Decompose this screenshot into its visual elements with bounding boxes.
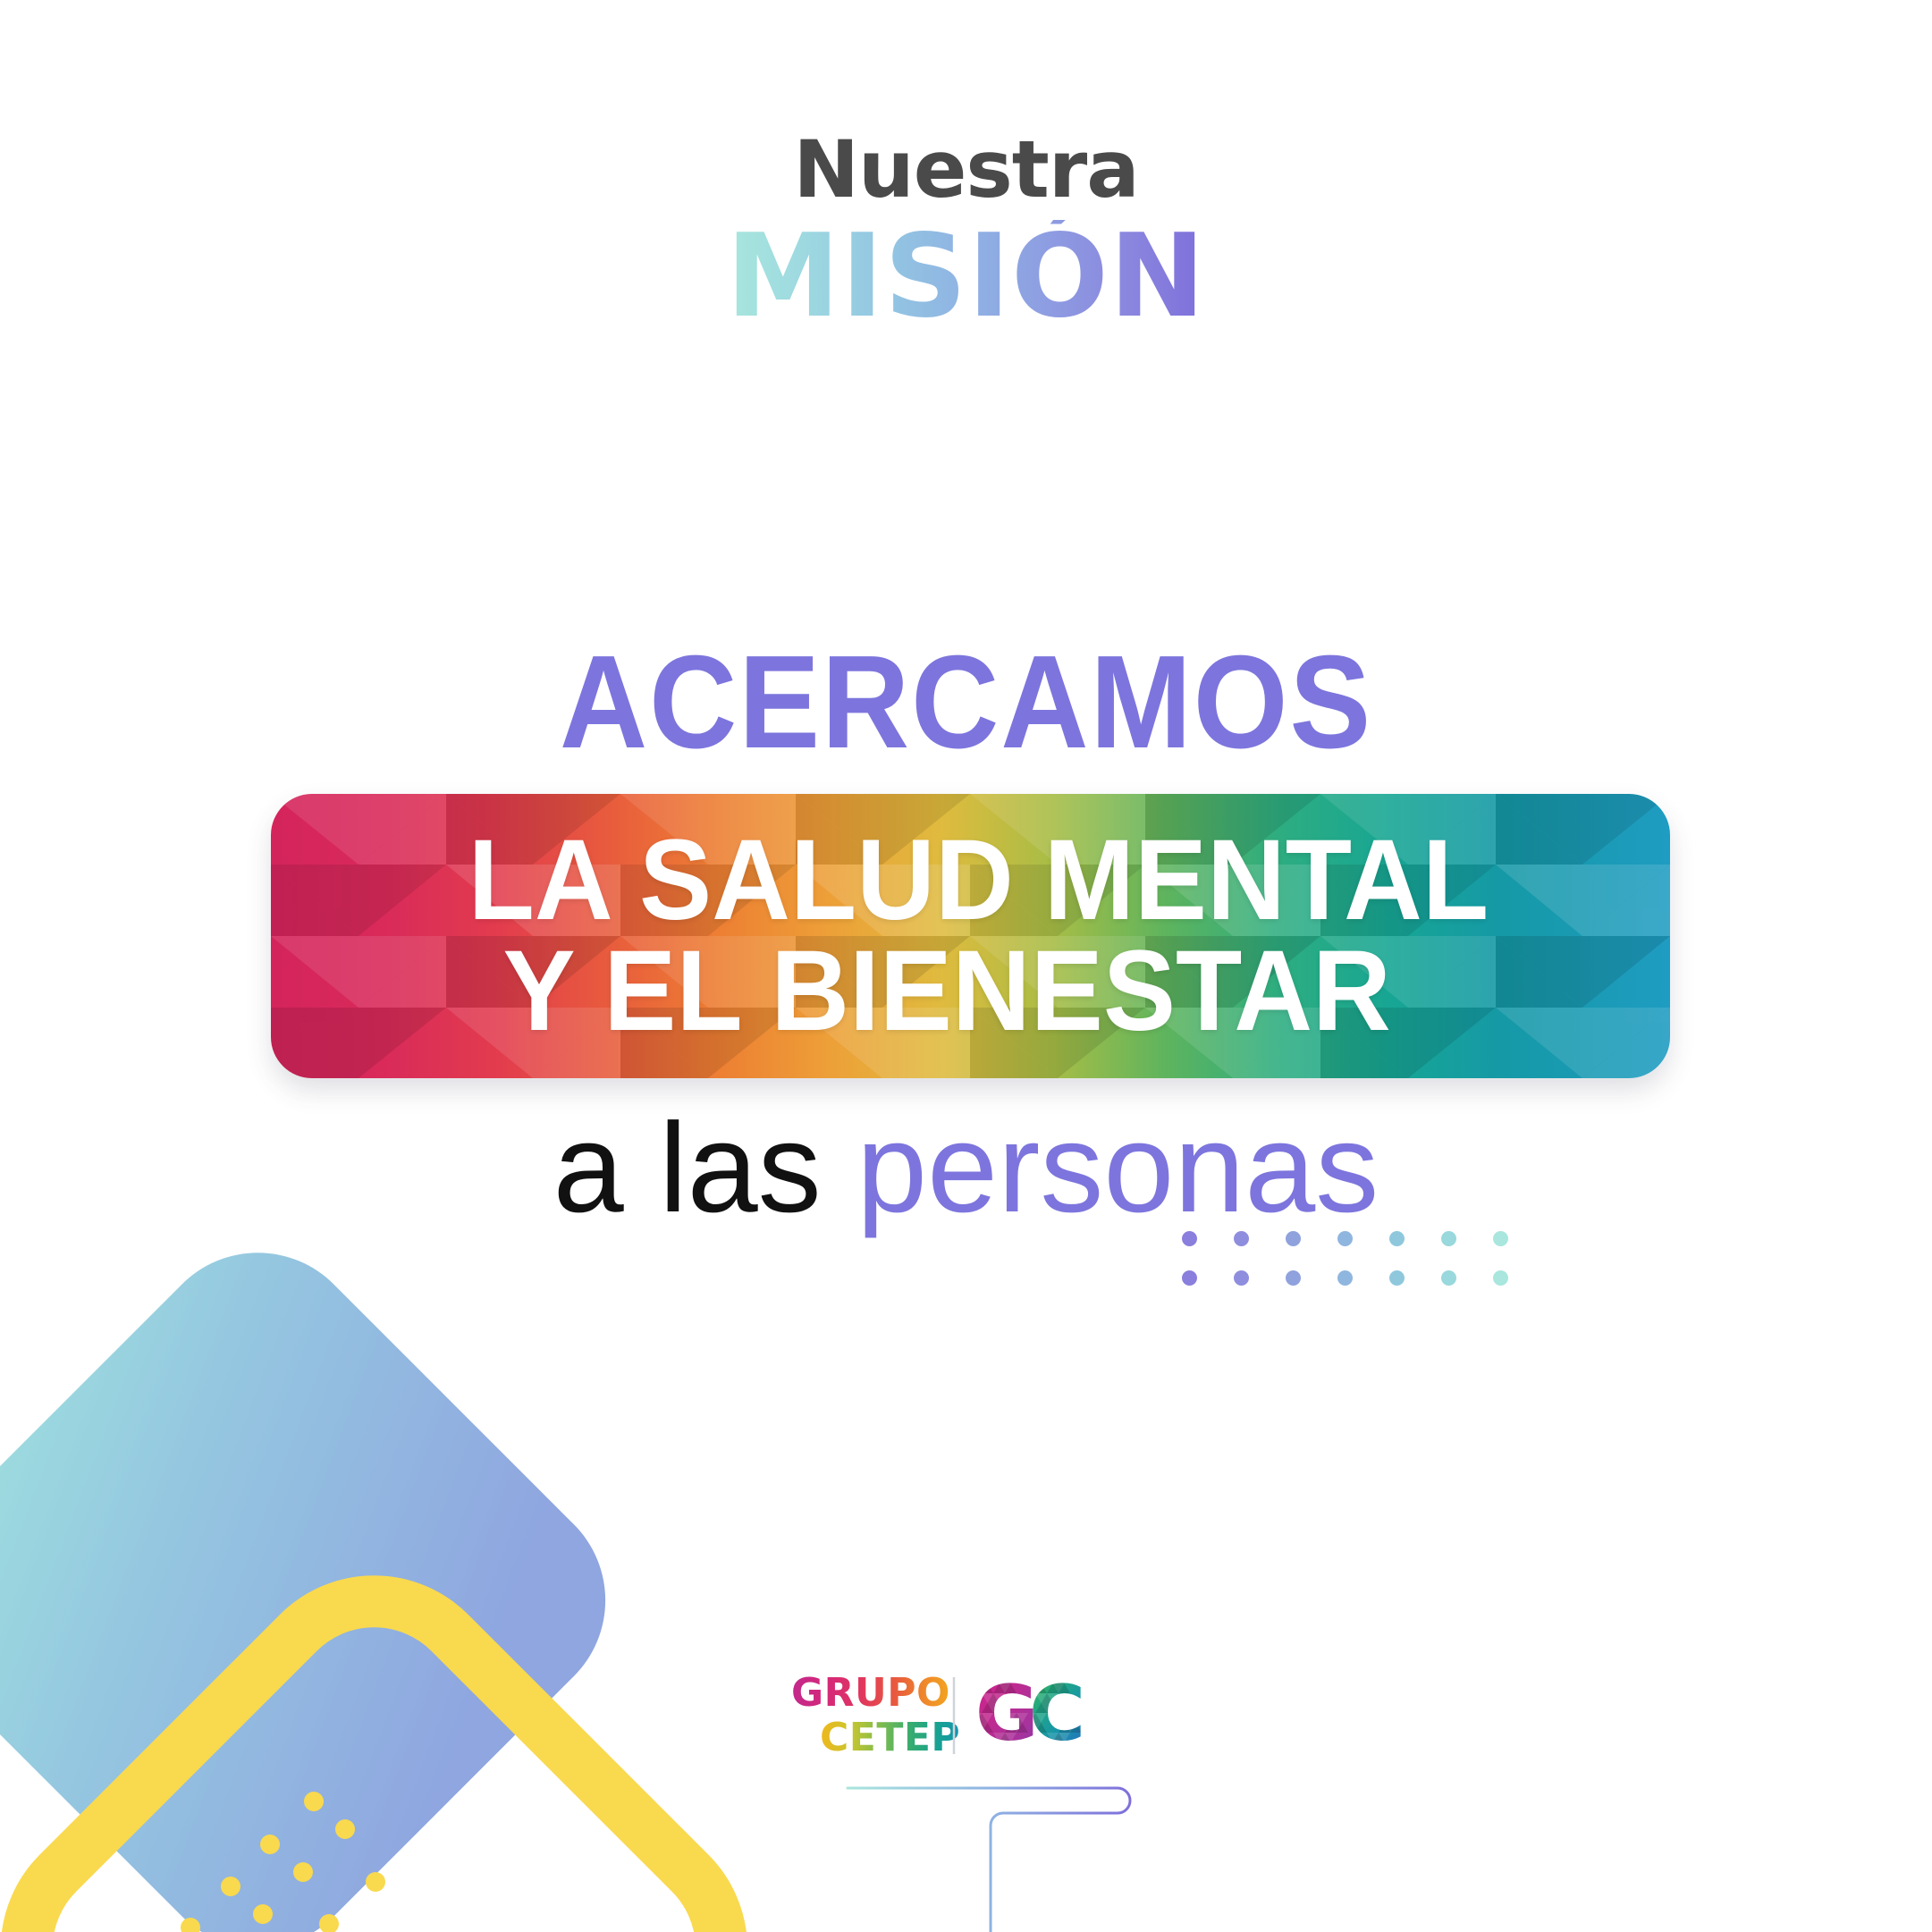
header-eyebrow: Nuestra	[0, 131, 1932, 209]
dot	[1441, 1270, 1456, 1286]
dot-grid-row	[1182, 1270, 1508, 1286]
dot	[1389, 1270, 1405, 1286]
statement-line-1: ACERCAMOS	[77, 637, 1854, 769]
dot-grid-decoration	[1182, 1231, 1508, 1286]
deco-dots-yellow	[181, 1792, 385, 1932]
brand-logo: G C GRUPO CETEP G	[791, 1665, 1149, 1772]
logo-word-cetep: CETEP	[820, 1715, 960, 1760]
dot-grid-row	[1182, 1231, 1508, 1246]
statement-line-3-plain: a las	[553, 1097, 856, 1239]
statement-line-3: a las personas	[0, 1105, 1932, 1232]
header-title-wrap: MISIÓN	[0, 220, 1932, 334]
dot	[1389, 1231, 1405, 1246]
grupo-cetep-logo-svg: G C GRUPO CETEP G	[791, 1665, 1149, 1772]
banner-text-block: LA SALUD MENTAL Y EL BIENESTAR	[271, 794, 1670, 1078]
dot	[1182, 1231, 1197, 1246]
dot	[1234, 1270, 1249, 1286]
dot	[1234, 1231, 1249, 1246]
page-header: Nuestra MISIÓN	[0, 131, 1932, 334]
logo-word-grupo: GRUPO	[791, 1670, 950, 1716]
deco-rounded-square-yellow	[0, 1557, 766, 1932]
page-title: MISIÓN	[726, 220, 1206, 334]
logo-monogram-g: G	[970, 1669, 1035, 1759]
dot	[1286, 1270, 1301, 1286]
statement-line-3-accent: personas	[856, 1097, 1379, 1239]
footer-line-svg	[805, 1777, 1180, 1932]
highlight-banner: LA SALUD MENTAL Y EL BIENESTAR	[271, 794, 1670, 1078]
mission-poster: Nuestra MISIÓN ACERCAMOS	[0, 0, 1932, 1932]
banner-line-1: LA SALUD MENTAL	[452, 825, 1489, 936]
dot	[1182, 1270, 1197, 1286]
dot	[1493, 1231, 1508, 1246]
footer-gradient-line	[805, 1777, 1180, 1932]
dot	[1441, 1231, 1456, 1246]
dot	[1337, 1231, 1353, 1246]
dot	[1337, 1270, 1353, 1286]
logo-monogram-c: C	[1024, 1669, 1082, 1759]
dot	[1286, 1231, 1301, 1246]
dot	[1493, 1270, 1508, 1286]
banner-line-2: Y EL BIENESTAR	[502, 936, 1438, 1047]
deco-rounded-square-blue	[0, 1209, 650, 1932]
